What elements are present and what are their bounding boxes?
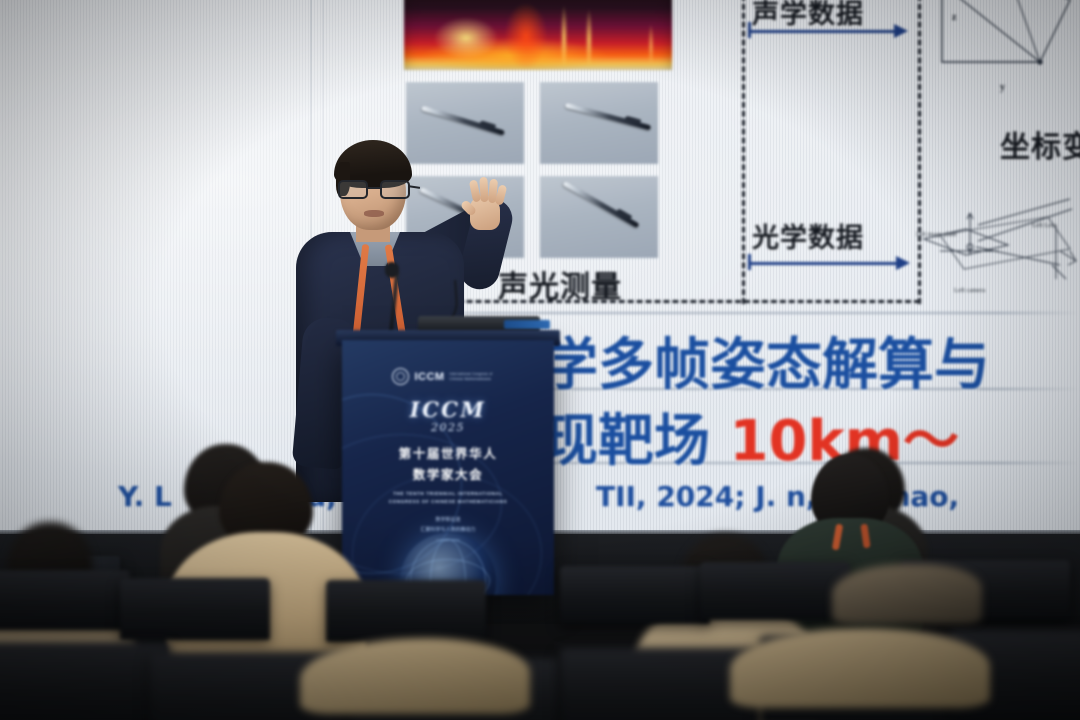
projectile-frame — [540, 176, 658, 258]
arrow-optical-data — [748, 262, 898, 265]
draped-coat — [730, 628, 990, 708]
arrow-head-icon — [894, 24, 908, 38]
presenter-raised-hand — [464, 180, 508, 232]
camera-geometry-diagram — [920, 195, 1080, 310]
microphone-head — [385, 262, 399, 278]
arrow-head-icon — [896, 256, 910, 270]
diagram-axis-label-z: z — [952, 12, 956, 23]
audience-seat — [560, 566, 710, 624]
iccm-logo-subtitle: International Congress of Chinese Mathem… — [450, 372, 504, 382]
label-optical-data: 光学数据 — [752, 216, 864, 255]
banner-iccm-script: ICCM — [410, 397, 487, 422]
diagram-label-left-image-plane: Left image plane — [916, 232, 950, 240]
arrow-acoustic-data — [748, 30, 896, 33]
audience-area — [0, 430, 1080, 720]
spectrogram-image — [404, 0, 672, 70]
iccm-logo-mark: ICCM — [414, 371, 444, 383]
presenter-mouth — [364, 210, 384, 217]
diagram-axis-label-y: y — [1000, 82, 1005, 93]
label-acoustic-data: 声学数据 — [752, 0, 864, 31]
projectile-frame — [540, 82, 658, 164]
conference-photo-scene: 声光测量 声学数据 光学数据 z y 坐标变 — [0, 0, 1080, 720]
draped-coat — [832, 564, 982, 624]
diagram-label-left-lens: Left Lens — [1032, 222, 1057, 229]
dashed-separator — [742, 0, 745, 304]
diagram-label-left-camera: Left camera — [954, 287, 985, 294]
label-coordinate-transform: 坐标变 — [1000, 122, 1080, 166]
presenter-glasses — [336, 180, 412, 200]
audience-seat — [0, 642, 170, 720]
audience-seat — [326, 580, 486, 642]
iccm-logo: ICCM International Congress of Chinese M… — [392, 368, 503, 385]
audience-seat — [700, 562, 850, 620]
iccm-seal-icon — [392, 368, 409, 385]
laptop-screen-strip — [504, 320, 550, 329]
slide-headline-line-1: 光学多帧姿态解算与 — [486, 320, 990, 401]
audience-seat — [0, 570, 130, 630]
audience-seat — [120, 578, 270, 640]
